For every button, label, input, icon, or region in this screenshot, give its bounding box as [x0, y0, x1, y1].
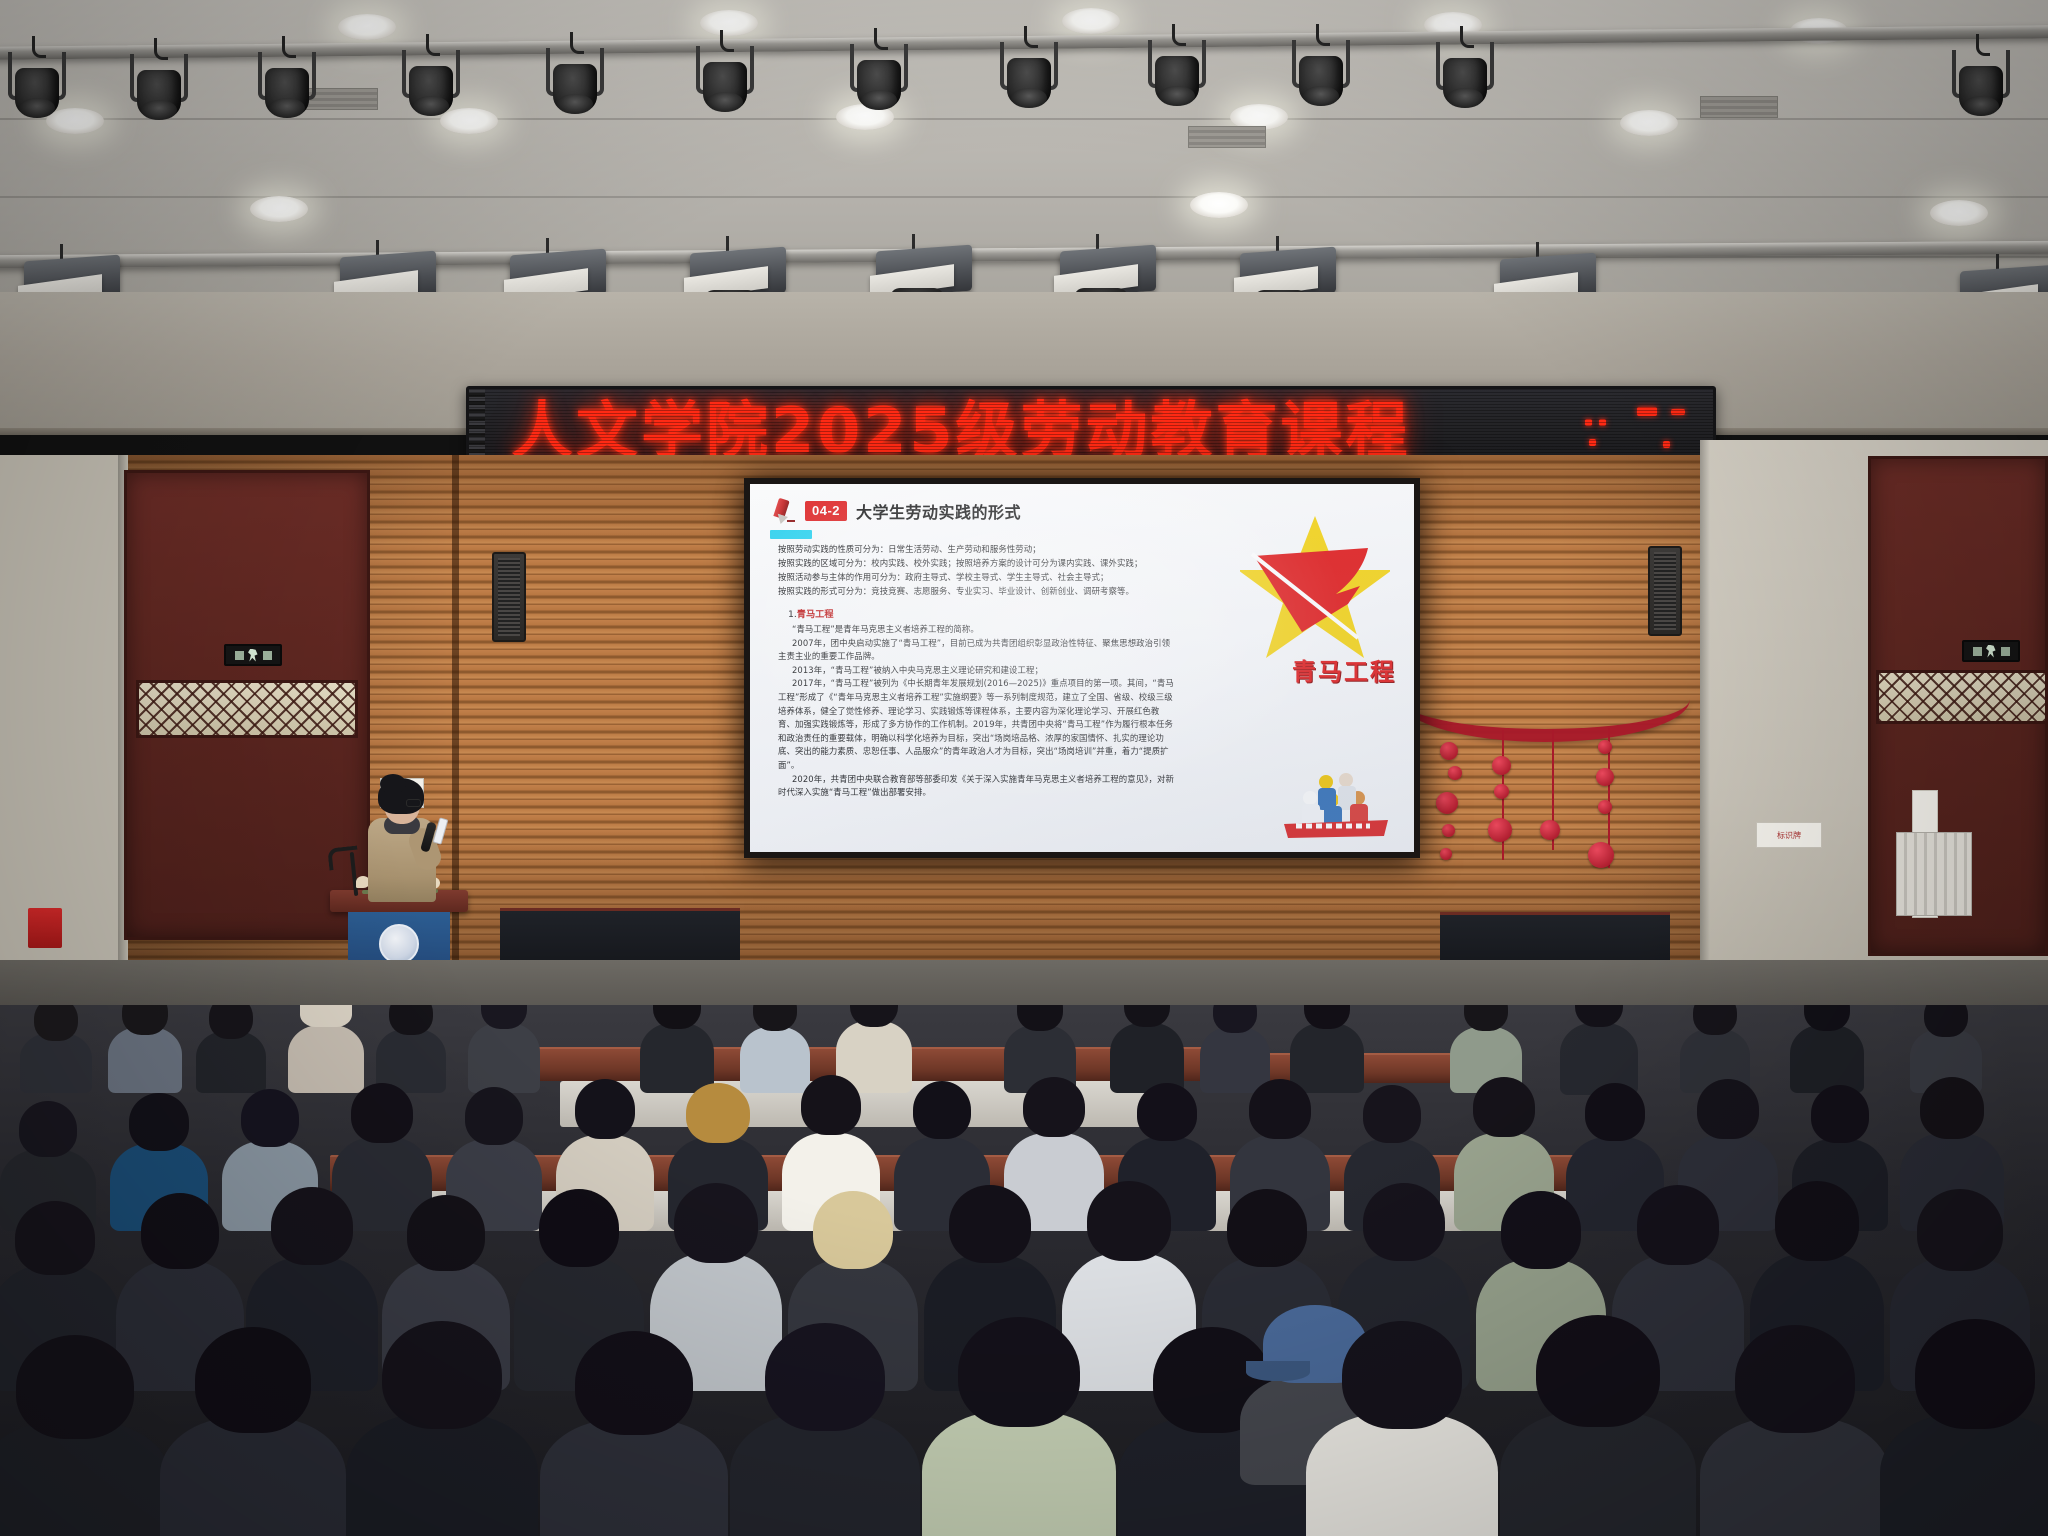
stage-light-par [694, 40, 756, 118]
left-side-wall [0, 455, 128, 1015]
new-year-ornament [1492, 756, 1511, 775]
qingma-star-logo [1240, 508, 1390, 658]
new-year-ornament [1588, 842, 1614, 868]
wall-plaque-right: 标识牌 [1756, 822, 1822, 848]
stage-light-par [1950, 44, 2012, 122]
slide-header: 04-2 大学生劳动实践的形式 [770, 498, 1021, 524]
workers-illustration [1280, 768, 1392, 840]
slide-paragraph: 2007年，团中央启动实施了“青马工程”，目前已成为共青团组织彰显政治性特征、聚… [778, 637, 1176, 664]
slide-intro-line: 按照实践的形式可分为：竞技竞赛、志愿服务、专业实习、毕业设计、创新创业、调研考察… [778, 584, 1176, 598]
slide-number-badge: 04-2 [805, 501, 847, 521]
new-year-ornament [1436, 792, 1458, 814]
audience-member [922, 1317, 1116, 1536]
stage-table [1440, 912, 1670, 964]
audience-member [1306, 1321, 1498, 1536]
new-year-ornament [1598, 740, 1612, 754]
slide-title: 大学生劳动实践的形式 [856, 499, 1021, 523]
new-year-ornament [1442, 824, 1455, 837]
ceiling-vent [1700, 96, 1778, 118]
ceiling-downlight [1930, 200, 1988, 226]
stage-light-par [6, 46, 68, 124]
audience-member [0, 1335, 170, 1536]
slide-section-title: 青马工程 [797, 609, 834, 620]
pencil-icon [770, 498, 796, 524]
new-year-garland [1400, 656, 1690, 742]
audience-member [1500, 1315, 1696, 1536]
audience-member [288, 1005, 364, 1093]
stage-light-par [1290, 34, 1352, 112]
new-year-ornament [1440, 848, 1452, 860]
audience-member [540, 1331, 728, 1536]
audience-member [160, 1327, 346, 1536]
door-lattice-left [136, 680, 358, 738]
slide-intro-line: 按照活动参与主体的作用可分为：政府主导式、学校主导式、学生主导式、社会主导式； [778, 570, 1176, 584]
slide-paragraph: “青马工程”是青年马克思主义者培养工程的简称。 [778, 623, 1176, 637]
new-year-ornament [1440, 742, 1458, 760]
auditorium-scene: 人文学院2025级劳动教育课程 [0, 0, 2048, 1536]
slide-paragraph: 2017年，“青马工程”被列为《中长期青年发展规划(2016—2025)》重点项… [778, 677, 1176, 772]
audience-member [468, 1005, 540, 1093]
qingma-logo-caption: 青马工程 [1292, 652, 1396, 687]
eyeglasses [406, 799, 421, 807]
audience-seating [0, 1005, 2048, 1536]
new-year-ornament [1488, 818, 1512, 842]
slide-section-heading: 1.青马工程 [788, 606, 1176, 620]
slide-section-number: 1. [788, 609, 797, 620]
stage-light-par [848, 38, 910, 116]
slide-paragraph: 2020年，共青团中央联合教育部等部委印发《关于深入实施青年马克思主义者培养工程… [778, 773, 1176, 800]
stage-light-par [256, 46, 318, 124]
audience-member [376, 1005, 446, 1093]
presenter-speaker [362, 782, 448, 902]
audience-member [1880, 1319, 2048, 1536]
wall-speaker-right [1648, 546, 1682, 636]
audience-member [1110, 1005, 1184, 1093]
ceiling-vent [1188, 126, 1266, 148]
audience-member [20, 1005, 92, 1093]
slide-body: 按照劳动实践的性质可分为：日常生活劳动、生产劳动和服务性劳动； 按照实践的区域可… [778, 542, 1176, 800]
ceiling-downlight [338, 14, 396, 40]
audience-member [346, 1321, 538, 1536]
stage-light-par [544, 42, 606, 120]
audience-member [730, 1323, 920, 1536]
slide-intro-line: 按照实践的区域可分为：校内实践、校外实践；按照培养方案的设计可分为课内实践、课外… [778, 556, 1176, 570]
exit-sign-right [1962, 640, 2020, 662]
audience-member [1700, 1325, 1890, 1536]
red-bag [28, 908, 62, 948]
university-crest [379, 924, 419, 964]
wall-speaker-left [492, 552, 526, 642]
presentation-slide: 04-2 大学生劳动实践的形式 按照劳动实践的性质可分为：日常生活劳动、生产劳动… [750, 484, 1414, 852]
door-lattice-right [1876, 670, 2048, 724]
ceiling-downlight [1062, 8, 1120, 34]
phone-in-hand [433, 817, 449, 844]
ceiling-downlight [250, 196, 308, 222]
slide-paragraph: 2013年，“青马工程”被纳入中央马克思主义理论研究和建设工程； [778, 664, 1176, 678]
stage-light-par [1146, 34, 1208, 112]
exit-sign-left [224, 644, 282, 666]
audience-member [108, 1005, 182, 1093]
new-year-ornament [1448, 766, 1462, 780]
audience-member [1560, 1005, 1638, 1095]
slide-intro-line: 按照劳动实践的性质可分为：日常生活劳动、生产劳动和服务性劳动； [778, 542, 1176, 556]
new-year-ornament [1540, 820, 1560, 840]
cyan-accent-bar [770, 530, 812, 539]
new-year-ornament [1598, 800, 1612, 814]
audience-member [1790, 1005, 1864, 1093]
stage-light-par [1434, 36, 1496, 114]
stage-light-par [400, 44, 462, 122]
led-banner-dots [1567, 405, 1687, 451]
stage-table [500, 908, 740, 964]
ceiling-downlight [1620, 110, 1678, 136]
stage-light-par [998, 36, 1060, 114]
wall-plaque-right-title: 标识牌 [1777, 830, 1801, 841]
stage-light-par [128, 48, 190, 126]
projection-screen: 04-2 大学生劳动实践的形式 按照劳动实践的性质可分为：日常生活劳动、生产劳动… [744, 478, 1420, 858]
radiator [1896, 832, 1972, 916]
audience-member [196, 1005, 266, 1093]
new-year-ornament [1596, 768, 1614, 786]
ceiling-downlight [1190, 192, 1248, 218]
new-year-ornament [1494, 784, 1509, 799]
